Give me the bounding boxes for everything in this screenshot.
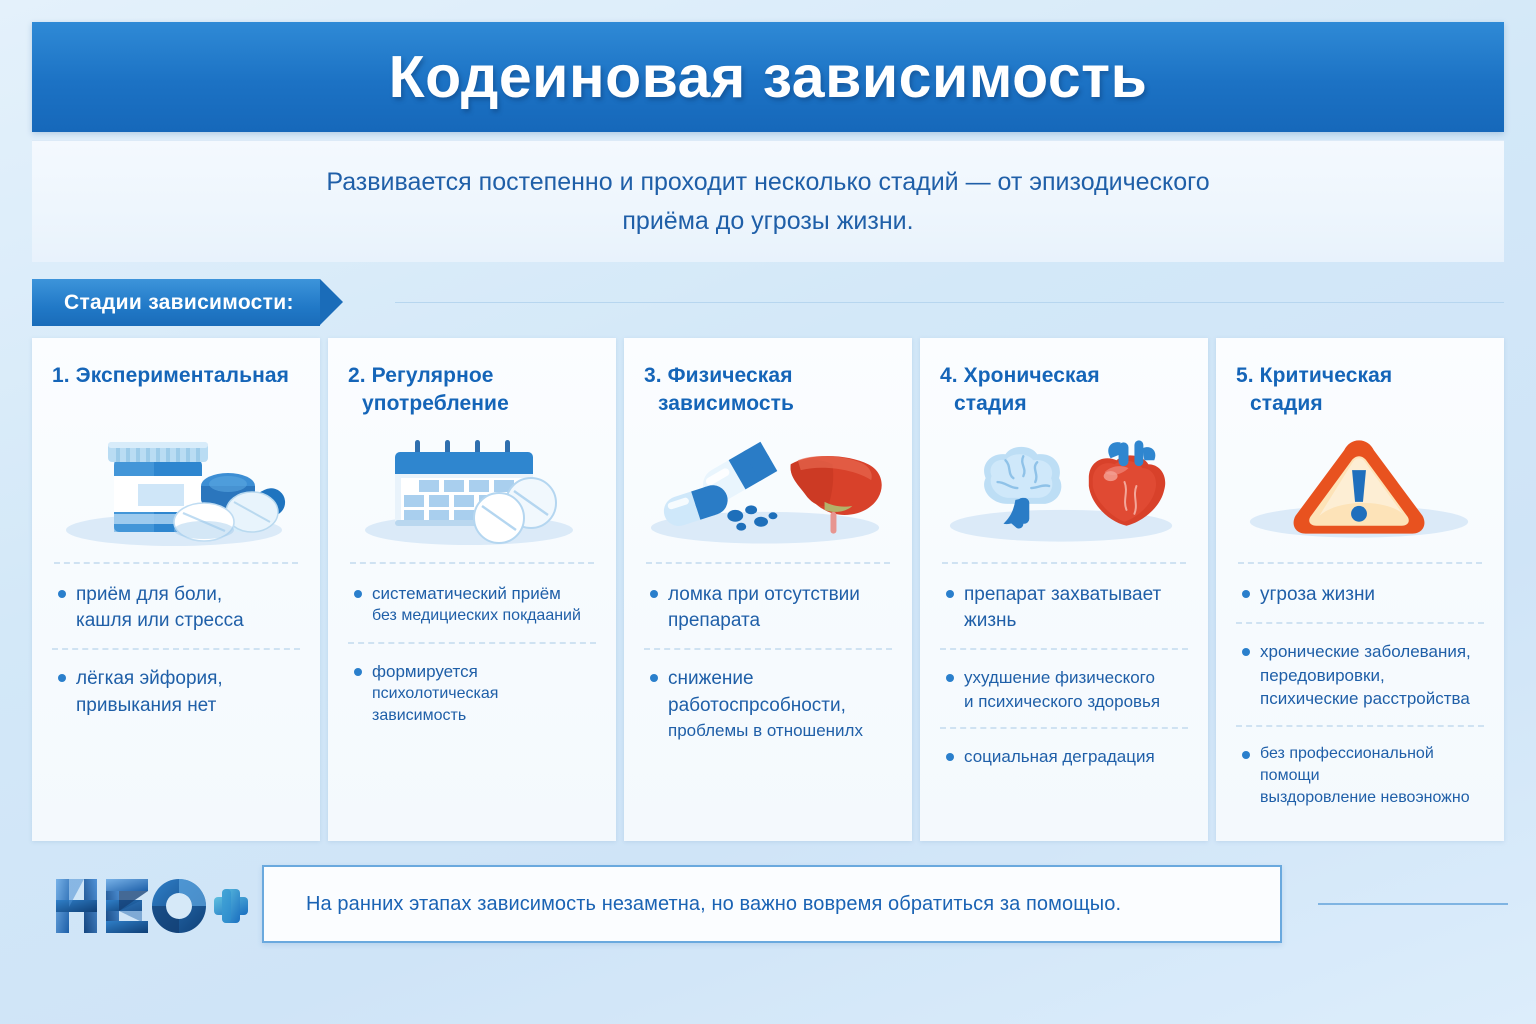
stage-card-3-bullets: ломка при отсутствии препарата снижение … <box>644 566 892 756</box>
stage-card-3-divider <box>646 562 890 564</box>
bullet-line: работоспрсобности, <box>668 693 890 719</box>
stage-card-5-title-line-1: 5. Критическая <box>1236 364 1392 387</box>
stage-card-3-title: 3. Физическая зависимость <box>644 362 892 424</box>
bullet-line: психолотическая зависимость <box>372 683 594 727</box>
stage-card-2-title-line-2: употребление <box>348 390 596 418</box>
stage-card-5-divider <box>1238 562 1482 564</box>
list-item: препарат захватывает жизнь <box>940 566 1188 648</box>
bullet-line: приём для боли, <box>76 582 298 608</box>
page-header: Кодеиновая зависимость <box>32 22 1504 132</box>
stage-card-3-title-line-1: 3. Физическая <box>644 364 793 387</box>
stage-card-3[interactable]: 3. Физическая зависимость <box>624 338 912 841</box>
bullet-line: препарата <box>668 608 890 634</box>
subtitle-line-1: Развивается постепенно и проходит нескол… <box>326 168 1209 196</box>
footer-note-box: На ранних этапах зависимость незаметна, … <box>262 865 1282 943</box>
bullet-line: хронические заболевания, <box>1260 640 1482 663</box>
subtitle-text: Развивается постепенно и проходит нескол… <box>326 163 1209 241</box>
stage-banner-rule <box>395 302 1504 303</box>
list-item: ломка при отсутствии препарата <box>644 566 892 648</box>
brain-heart-icon <box>940 430 1188 548</box>
bullet-line: психические расстройства <box>1260 687 1482 710</box>
bullet-line: и психического здоровья <box>964 690 1186 713</box>
stages-card-row: 1. Экспериментальная <box>32 338 1504 841</box>
bullet-line: формируется <box>372 660 594 683</box>
page-title: Кодеиновая зависимость <box>389 43 1148 111</box>
footer-rule <box>1318 903 1508 905</box>
page-footer: На ранних этапах зависимость незаметна, … <box>0 855 1536 975</box>
stage-banner-body: Стадии зависимости: <box>32 279 320 326</box>
bullet-line: лёгкая эйфория, <box>76 666 298 692</box>
stage-card-4-title: 4. Хроническая стадия <box>940 362 1188 424</box>
stage-banner-label: Стадии зависимости: <box>64 291 294 315</box>
bullet-line: проблемы в отношенилх <box>668 719 890 742</box>
stage-card-2-title: 2. Регулярное употребление <box>348 362 596 424</box>
list-item: снижение работоспрсобности, проблемы в о… <box>644 648 892 756</box>
stage-card-1-bullets: приём для боли, кашля или стресса лёгкая… <box>52 566 300 733</box>
stage-card-5-title: 5. Критическая стадия <box>1236 362 1484 424</box>
stage-banner: Стадии зависимости: <box>32 279 320 326</box>
bullet-line: выздоровление невоэножно <box>1260 787 1482 809</box>
list-item: ухудшение физического и психического здо… <box>940 648 1188 727</box>
list-item: формируется психолотическая зависимость <box>348 642 596 742</box>
warning-triangle-icon <box>1236 430 1484 548</box>
stage-card-4[interactable]: 4. Хроническая стадия <box>920 338 1208 841</box>
list-item: социальная деградация <box>940 727 1188 782</box>
stage-card-3-title-line-2: зависимость <box>644 390 892 418</box>
stage-card-4-bullets: препарат захватывает жизнь ухудшение физ… <box>940 566 1188 783</box>
bullet-line: препарат захватывает <box>964 582 1186 608</box>
calendar-pills-icon <box>348 430 596 548</box>
stage-card-2-bullets: систематический приём без медициеских по… <box>348 566 596 741</box>
bullet-line: ухудшение физического <box>964 666 1186 689</box>
stage-card-4-title-line-2: стадия <box>940 390 1188 418</box>
list-item: лёгкая эйфория, привыкания нет <box>52 648 300 732</box>
bullet-line: жизнь <box>964 608 1186 634</box>
bullet-line: без профессиональной помощи <box>1260 743 1482 787</box>
stage-card-5-title-line-2: стадия <box>1236 390 1484 418</box>
neo-plus-logo <box>48 867 248 945</box>
stage-card-1-title-line-1: 1. Экспериментальная <box>52 364 289 387</box>
list-item: без профессиональной помощи выздоровлени… <box>1236 725 1484 823</box>
capsule-liver-icon <box>644 430 892 548</box>
stage-card-2[interactable]: 2. Регулярное употребление <box>328 338 616 841</box>
list-item: хронические заболевания, передовировки, … <box>1236 622 1484 724</box>
stage-card-1-divider <box>54 562 298 564</box>
subtitle-band: Развивается постепенно и проходит нескол… <box>32 140 1504 262</box>
stage-card-4-title-line-1: 4. Хроническая <box>940 364 1100 387</box>
bullet-line: систематический приём <box>372 582 594 605</box>
stage-card-2-title-line-1: 2. Регулярное <box>348 364 494 387</box>
bullet-line: без медициеских покдааний <box>372 605 594 627</box>
stage-card-5-bullets: угроза жизни хронические заболевания, пе… <box>1236 566 1484 823</box>
pill-bottle-icon <box>52 430 300 548</box>
list-item: приём для боли, кашля или стресса <box>52 566 300 648</box>
bullet-line: ломка при отсутствии <box>668 582 890 608</box>
bullet-line: привыкания нет <box>76 693 298 719</box>
stage-card-2-divider <box>350 562 594 564</box>
footer-note-text: На ранних этапах зависимость незаметна, … <box>306 893 1121 916</box>
bullet-line: социальная деградация <box>964 745 1186 768</box>
bullet-line: угроза жизни <box>1260 582 1482 608</box>
stage-card-1-title: 1. Экспериментальная <box>52 362 300 424</box>
bullet-line: кашля или стресса <box>76 608 298 634</box>
stage-card-1[interactable]: 1. Экспериментальная <box>32 338 320 841</box>
list-item: систематический приём без медициеских по… <box>348 566 596 642</box>
bullet-line: снижение <box>668 666 890 692</box>
subtitle-line-2: приёма до угрозы жизни. <box>622 207 913 235</box>
list-item: угроза жизни <box>1236 566 1484 622</box>
stage-card-5[interactable]: 5. Критическая стадия угроза жизни хрони… <box>1216 338 1504 841</box>
stage-card-4-divider <box>942 562 1186 564</box>
bullet-line: передовировки, <box>1260 664 1482 687</box>
